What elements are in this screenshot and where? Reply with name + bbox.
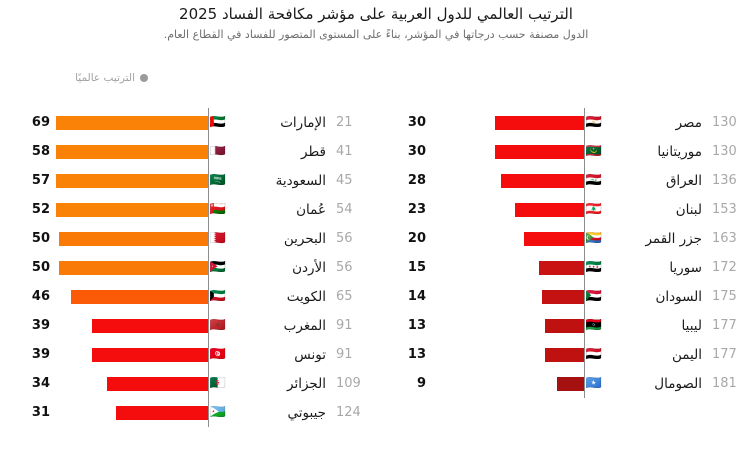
country-name-label: مصر (610, 115, 706, 131)
axis-line (584, 195, 586, 224)
bar-value-label: 58 (0, 144, 56, 159)
bar-value-label: 39 (0, 318, 56, 333)
global-rank-label: 177 (706, 318, 752, 333)
country-name-label: الكويت (234, 289, 330, 305)
legend-label: الترتيب عالميًا (75, 72, 135, 84)
bar-track (432, 166, 584, 195)
country-flag-icon: 🇶🇦 (208, 145, 228, 158)
bar (107, 377, 208, 391)
bar-value-label: 23 (376, 202, 432, 217)
bar-track (56, 195, 208, 224)
bar-track (432, 340, 584, 369)
bar-value-label: 20 (376, 231, 432, 246)
bar (501, 174, 584, 188)
global-rank-label: 181 (706, 376, 752, 391)
axis-line (584, 282, 586, 311)
axis-line (584, 253, 586, 282)
chart-row: 20🇰🇲جزر القمر163 (376, 224, 752, 253)
bar-track (432, 282, 584, 311)
bar (495, 116, 584, 130)
bar-value-label: 30 (376, 115, 432, 130)
country-name-label: الإمارات (234, 115, 330, 131)
page-title: الترتيب العالمي للدول العربية على مؤشر م… (0, 4, 752, 24)
axis-line (584, 166, 586, 195)
bar-track (56, 340, 208, 369)
country-name-label: السودان (610, 289, 706, 305)
chart-row: 58🇶🇦قطر41 (0, 137, 376, 166)
bar-track (432, 137, 584, 166)
bar (542, 290, 584, 304)
country-name-label: قطر (234, 144, 330, 160)
chart-columns: 69🇦🇪الإمارات2158🇶🇦قطر4157🇸🇦السعودية4552🇴… (0, 108, 752, 427)
bar-track (56, 166, 208, 195)
chart-column-right: 69🇦🇪الإمارات2158🇶🇦قطر4157🇸🇦السعودية4552🇴… (0, 108, 376, 427)
chart-row: 28🇮🇶العراق136 (376, 166, 752, 195)
bar-track (56, 398, 208, 427)
country-flag-icon: 🇸🇦 (208, 174, 228, 187)
bar (524, 232, 584, 246)
chart-row: 14🇸🇩السودان175 (376, 282, 752, 311)
bar (59, 261, 208, 275)
chart-row: 57🇸🇦السعودية45 (0, 166, 376, 195)
global-rank-label: 56 (330, 260, 376, 275)
bar-track (432, 108, 584, 137)
bar-track (56, 311, 208, 340)
global-rank-label: 91 (330, 318, 376, 333)
chart-row: 39🇲🇦المغرب91 (0, 311, 376, 340)
axis-line (584, 369, 586, 398)
page-subtitle: الدول مصنفة حسب درجاتها في المؤشر، بناءً… (0, 26, 752, 44)
country-name-label: جيبوتي (234, 405, 330, 421)
bar-track (56, 224, 208, 253)
chart-row: 15🇸🇾سوريا172 (376, 253, 752, 282)
chart-row: 13🇱🇾ليبيا177 (376, 311, 752, 340)
country-flag-icon: 🇲🇦 (208, 319, 228, 332)
country-name-label: السعودية (234, 173, 330, 189)
country-flag-icon: 🇩🇿 (208, 377, 228, 390)
chart-row: 39🇹🇳تونس91 (0, 340, 376, 369)
bar-track (432, 224, 584, 253)
country-flag-icon: 🇧🇭 (208, 232, 228, 245)
bar (56, 203, 208, 217)
bar (557, 377, 584, 391)
country-name-label: تونس (234, 347, 330, 363)
bar-value-label: 15 (376, 260, 432, 275)
chart-row: 30🇲🇷موريتانيا130 (376, 137, 752, 166)
axis-line (208, 108, 210, 137)
chart-row: 9🇸🇴الصومال181 (376, 369, 752, 398)
chart-column-left: 30🇪🇬مصر13030🇲🇷موريتانيا13028🇮🇶العراق1362… (376, 108, 752, 427)
bar-value-label: 13 (376, 347, 432, 362)
global-rank-label: 153 (706, 202, 752, 217)
bar (545, 319, 584, 333)
bar-value-label: 34 (0, 376, 56, 391)
chart-row: 46🇰🇼الكويت65 (0, 282, 376, 311)
axis-line (208, 224, 210, 253)
bar-track (56, 108, 208, 137)
global-rank-label: 136 (706, 173, 752, 188)
bar-value-label: 69 (0, 115, 56, 130)
bar-value-label: 28 (376, 173, 432, 188)
country-name-label: سوريا (610, 260, 706, 276)
bar-track (56, 253, 208, 282)
axis-line (208, 195, 210, 224)
bar (56, 116, 208, 130)
country-flag-icon: 🇹🇳 (208, 348, 228, 361)
bar (59, 232, 208, 246)
country-name-label: المغرب (234, 318, 330, 334)
chart-row: 34🇩🇿الجزائر109 (0, 369, 376, 398)
bar-value-label: 13 (376, 318, 432, 333)
bar-track (56, 282, 208, 311)
country-name-label: الأردن (234, 260, 330, 276)
chart-row: 31🇩🇯جيبوتي124 (0, 398, 376, 427)
chart-row: 52🇴🇲عُمان54 (0, 195, 376, 224)
bar-value-label: 57 (0, 173, 56, 188)
axis-line (208, 137, 210, 166)
country-flag-icon: 🇲🇷 (584, 145, 604, 158)
bar-value-label: 50 (0, 260, 56, 275)
bar (71, 290, 208, 304)
global-rank-label: 21 (330, 115, 376, 130)
bar (515, 203, 584, 217)
chart-row: 13🇾🇪اليمن177 (376, 340, 752, 369)
bar-value-label: 9 (376, 376, 432, 391)
country-flag-icon: 🇸🇩 (584, 290, 604, 303)
country-flag-icon: 🇪🇬 (584, 116, 604, 129)
country-flag-icon: 🇴🇲 (208, 203, 228, 216)
axis-line (584, 311, 586, 340)
country-flag-icon: 🇱🇧 (584, 203, 604, 216)
bar (116, 406, 208, 420)
country-flag-icon: 🇩🇯 (208, 406, 228, 419)
global-rank-label: 177 (706, 347, 752, 362)
bar (92, 319, 208, 333)
chart-row: 50🇯🇴الأردن56 (0, 253, 376, 282)
bar (539, 261, 584, 275)
bar-track (432, 195, 584, 224)
bar-value-label: 30 (376, 144, 432, 159)
global-rank-label: 65 (330, 289, 376, 304)
axis-line (208, 369, 210, 398)
global-rank-label: 56 (330, 231, 376, 246)
chart-row: 69🇦🇪الإمارات21 (0, 108, 376, 137)
country-name-label: لبنان (610, 202, 706, 218)
bar-value-label: 39 (0, 347, 56, 362)
global-rank-label: 172 (706, 260, 752, 275)
chart-header: الترتيب العالمي للدول العربية على مؤشر م… (0, 0, 752, 44)
bar-value-label: 46 (0, 289, 56, 304)
axis-line (208, 340, 210, 369)
legend-dot-icon (140, 74, 148, 82)
country-flag-icon: 🇰🇲 (584, 232, 604, 245)
chart-row: 30🇪🇬مصر130 (376, 108, 752, 137)
country-name-label: ليبيا (610, 318, 706, 334)
country-flag-icon: 🇱🇾 (584, 319, 604, 332)
global-rank-label: 163 (706, 231, 752, 246)
bar (545, 348, 584, 362)
country-flag-icon: 🇯🇴 (208, 261, 228, 274)
bar (495, 145, 584, 159)
country-name-label: الصومال (610, 376, 706, 392)
global-rank-label: 41 (330, 144, 376, 159)
country-name-label: جزر القمر (610, 231, 706, 247)
axis-line (208, 282, 210, 311)
global-rank-label: 175 (706, 289, 752, 304)
global-rank-label: 124 (330, 405, 376, 420)
bar (56, 174, 208, 188)
axis-line (584, 340, 586, 369)
bar-track (432, 311, 584, 340)
country-flag-icon: 🇸🇾 (584, 261, 604, 274)
country-name-label: اليمن (610, 347, 706, 363)
chart-row: 23🇱🇧لبنان153 (376, 195, 752, 224)
bar-track (432, 253, 584, 282)
global-rank-label: 130 (706, 144, 752, 159)
bar-value-label: 52 (0, 202, 56, 217)
bar-track (56, 369, 208, 398)
country-name-label: الجزائر (234, 376, 330, 392)
bar-track (432, 369, 584, 398)
country-name-label: العراق (610, 173, 706, 189)
global-rank-label: 54 (330, 202, 376, 217)
global-rank-label: 91 (330, 347, 376, 362)
country-flag-icon: 🇦🇪 (208, 116, 228, 129)
chart-row: 50🇧🇭البحرين56 (0, 224, 376, 253)
country-flag-icon: 🇰🇼 (208, 290, 228, 303)
global-rank-label: 109 (330, 376, 376, 391)
global-rank-label: 45 (330, 173, 376, 188)
global-rank-label: 130 (706, 115, 752, 130)
axis-line (584, 137, 586, 166)
axis-line (208, 398, 210, 427)
bar-track (56, 137, 208, 166)
country-name-label: البحرين (234, 231, 330, 247)
axis-line (584, 224, 586, 253)
bar (92, 348, 208, 362)
country-name-label: موريتانيا (610, 144, 706, 160)
axis-line (208, 253, 210, 282)
bar-value-label: 14 (376, 289, 432, 304)
bar-value-label: 31 (0, 405, 56, 420)
country-flag-icon: 🇸🇴 (584, 377, 604, 390)
country-name-label: عُمان (234, 202, 330, 218)
axis-line (208, 311, 210, 340)
axis-line (584, 108, 586, 137)
bar (56, 145, 208, 159)
legend: الترتيب عالميًا (0, 72, 752, 84)
country-flag-icon: 🇮🇶 (584, 174, 604, 187)
country-flag-icon: 🇾🇪 (584, 348, 604, 361)
bar-value-label: 50 (0, 231, 56, 246)
axis-line (208, 166, 210, 195)
